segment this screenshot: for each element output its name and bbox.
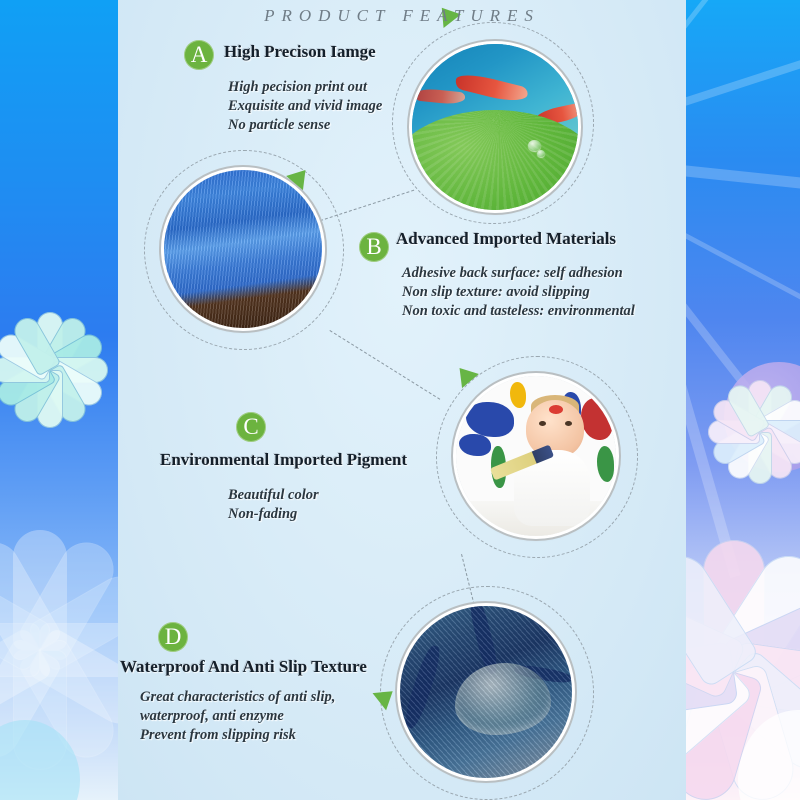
feature-line: No particle sense: [228, 116, 382, 135]
ray-line: [682, 31, 800, 110]
feature-line: High pecision print out: [228, 78, 382, 97]
feature-line: Non slip texture: avoid slipping: [402, 283, 635, 302]
paint-splatter: [466, 402, 514, 437]
feature-lines-a: High pecision print out Exquisite and vi…: [228, 78, 382, 135]
feature-heading-d: Waterproof And Anti Slip Texture: [120, 657, 367, 677]
waterproof-droplet-photo: [400, 606, 572, 778]
lily-pad: [412, 110, 578, 210]
badge-d: D: [158, 622, 188, 652]
badge-a: A: [184, 40, 214, 70]
feature-line: Prevent from slipping risk: [140, 726, 335, 745]
left-decorative-band: [0, 0, 120, 800]
ray-line: [682, 0, 800, 44]
texture-streak: [401, 643, 444, 730]
photo-c-image: [456, 376, 616, 536]
infographic-canvas: PRODUCT FEATURES: [0, 0, 800, 800]
badge-b: B: [359, 232, 389, 262]
water-drop-icon: [455, 663, 551, 735]
feature-line: Exquisite and vivid image: [228, 97, 382, 116]
feature-heading-a: High Precison Iamge: [224, 42, 376, 62]
paint-splatter: [597, 446, 615, 481]
baby-eye: [539, 421, 546, 426]
badge-c: C: [236, 412, 266, 442]
feature-lines-b: Adhesive back surface: self adhesion Non…: [402, 264, 635, 321]
baby-eye: [565, 421, 572, 426]
feature-line: Non toxic and tasteless: environmental: [402, 302, 635, 321]
paint-splatter: [459, 434, 491, 456]
feature-lines-d: Great characteristics of anti slip, wate…: [140, 688, 335, 745]
feature-heading-c: Environmental Imported Pigment: [160, 450, 407, 470]
blue-fabric-material-photo: [164, 170, 322, 328]
koi-pond-print-photo: [412, 44, 578, 210]
photo-a-image: [412, 44, 578, 210]
feature-heading-b: Advanced Imported Materials: [396, 229, 616, 249]
connector-b-to-c: [329, 330, 440, 400]
feature-line: Beautiful color: [228, 486, 319, 505]
main-panel: PRODUCT FEATURES: [118, 0, 686, 800]
paint-splatter: [581, 398, 613, 440]
feature-line: Adhesive back surface: self adhesion: [402, 264, 635, 283]
texture-streak: [513, 663, 572, 685]
paint-splatter: [510, 382, 526, 408]
right-decorative-band: [682, 0, 800, 800]
feature-lines-c: Beautiful color Non-fading: [228, 486, 319, 524]
baby-paint-photo: [456, 376, 616, 536]
feature-line: waterproof, anti enzyme: [140, 707, 335, 726]
feature-line: Great characteristics of anti slip,: [140, 688, 335, 707]
water-drop-icon: [537, 150, 545, 157]
photo-d-image: [400, 606, 572, 778]
photo-b-image: [164, 170, 322, 328]
ray-line: [682, 164, 800, 199]
page-title: PRODUCT FEATURES: [118, 6, 686, 26]
texture-streak: [466, 606, 500, 675]
feature-line: Non-fading: [228, 505, 319, 524]
